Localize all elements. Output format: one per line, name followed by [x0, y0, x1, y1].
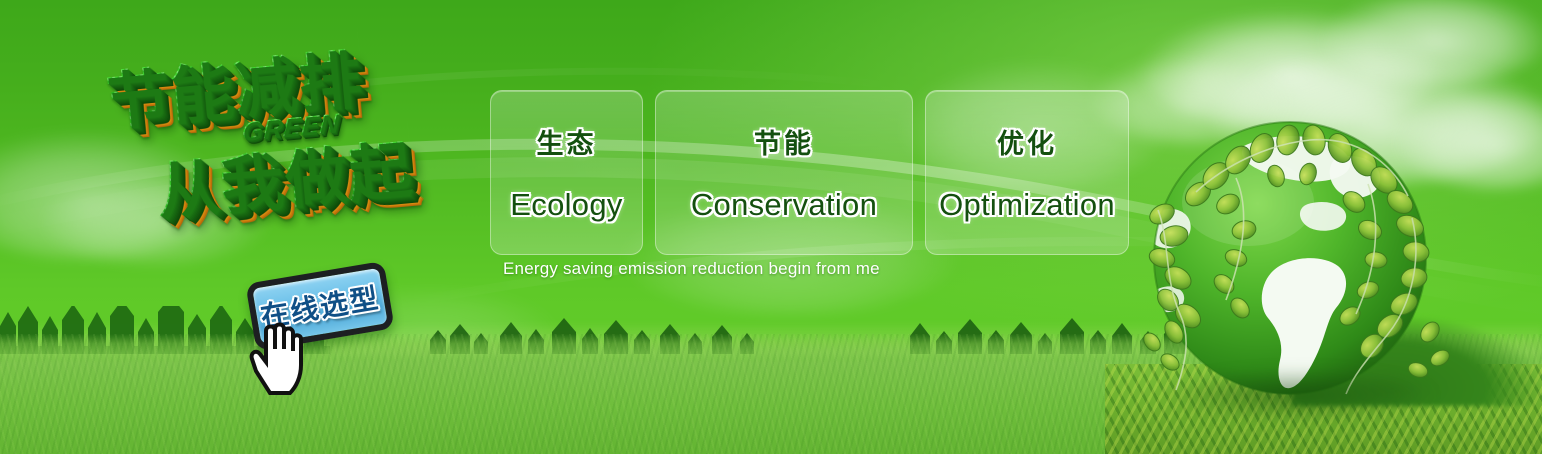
feature-card-cn-label: 节能: [754, 122, 814, 161]
feature-card-list: 生态 Ecology 节能 Conservation 优化 Optimizati…: [490, 90, 1129, 255]
feature-card-conservation[interactable]: 节能 Conservation: [655, 90, 913, 255]
page-title: 节能减排 GREEN 从我做起: [92, 34, 492, 274]
feature-card-ecology[interactable]: 生态 Ecology: [490, 90, 643, 255]
pointing-hand-cursor-icon: [244, 315, 318, 395]
feature-card-en-label: Ecology: [510, 187, 622, 223]
clouds-icon: [1320, 0, 1542, 85]
globe-shadow: [1158, 368, 1438, 422]
feature-card-cn-label: 生态: [537, 122, 597, 161]
leafy-globe-icon: [1140, 118, 1450, 438]
tagline: Energy saving emission reduction begin f…: [503, 259, 880, 279]
green-energy-banner: 节能减排 GREEN 从我做起 在线选型 生态 Ecology 节能 Conse…: [0, 0, 1542, 454]
feature-card-en-label: Conservation: [691, 187, 877, 223]
feature-card-en-label: Optimization: [939, 187, 1115, 223]
feature-card-optimization[interactable]: 优化 Optimization: [925, 90, 1129, 255]
clouds-icon: [1140, 10, 1440, 130]
feature-card-cn-label: 优化: [997, 122, 1057, 161]
headline-line-bottom: 从我做起: [152, 119, 415, 232]
